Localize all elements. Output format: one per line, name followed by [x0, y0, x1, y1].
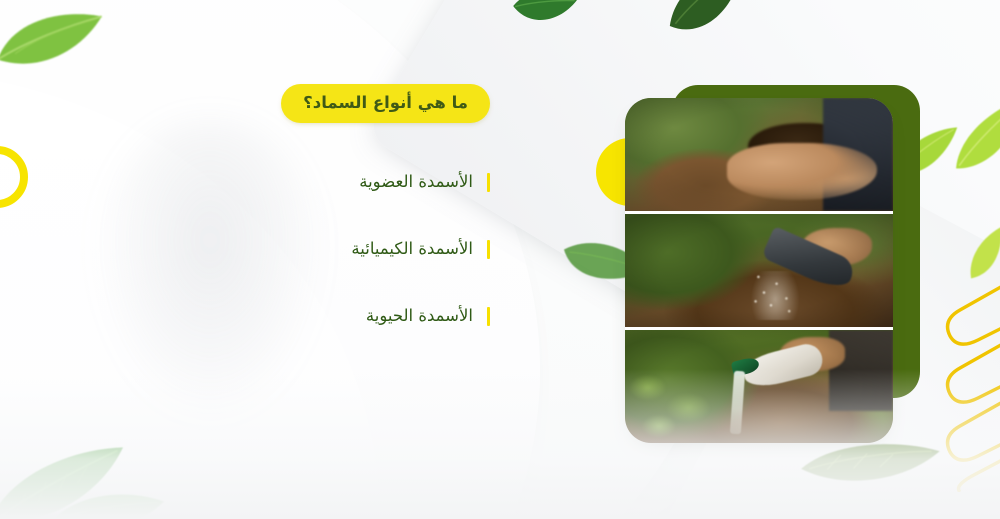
photo-1-vignette	[625, 98, 893, 211]
bottom-fade-overlay	[0, 369, 1000, 519]
list-item[interactable]: الأسمدة العضوية	[120, 167, 490, 197]
bullet-bar-icon	[487, 173, 490, 192]
photo-2-vignette	[625, 214, 893, 327]
bullet-bar-icon	[487, 307, 490, 326]
slide-canvas: ما هي أنواع السماد؟ الأسمدة العضوية الأس…	[0, 0, 1000, 519]
fertilizer-types-list: الأسمدة العضوية الأسمدة الكيميائية الأسم…	[120, 167, 490, 331]
list-item[interactable]: الأسمدة الحيوية	[120, 301, 490, 331]
photo-hands-holding-compost	[625, 98, 893, 211]
bullet-bar-icon	[487, 240, 490, 259]
photo-trowel-spreading-fertilizer	[625, 214, 893, 327]
list-item-label: الأسمدة الحيوية	[366, 308, 473, 325]
list-item-label: الأسمدة العضوية	[359, 174, 473, 191]
page-title: ما هي أنواع السماد؟	[281, 84, 490, 123]
list-item-label: الأسمدة الكيميائية	[351, 241, 473, 258]
content-column: ما هي أنواع السماد؟ الأسمدة العضوية الأس…	[120, 84, 490, 368]
list-item[interactable]: الأسمدة الكيميائية	[120, 234, 490, 264]
